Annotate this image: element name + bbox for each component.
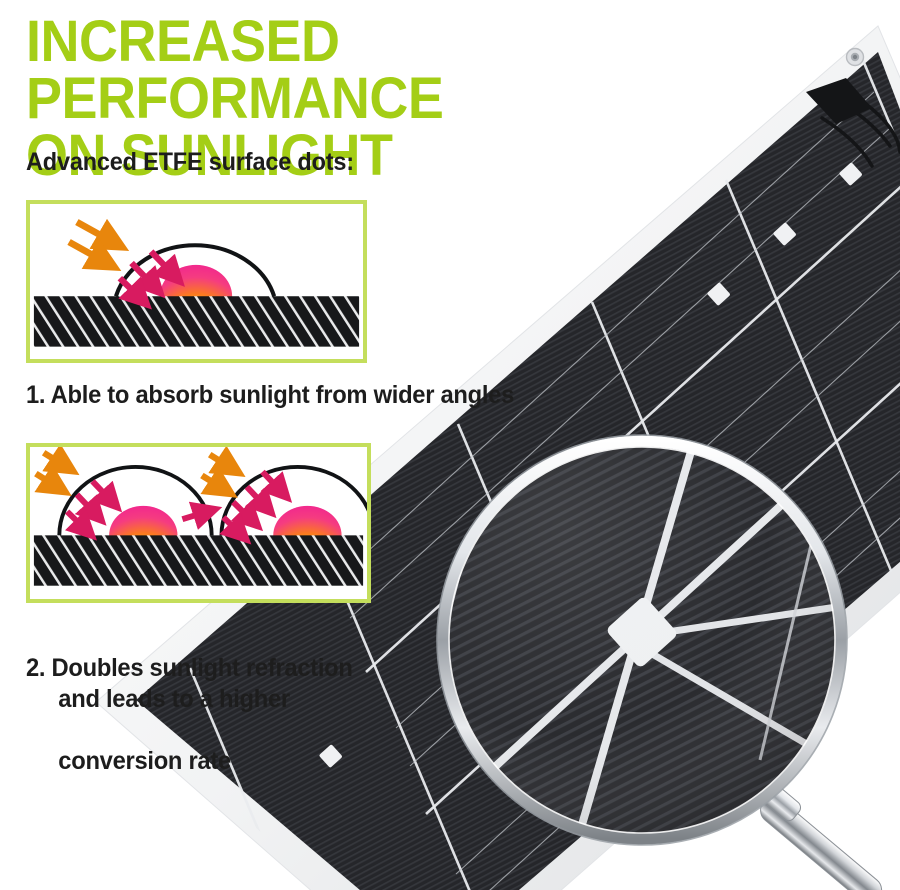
infographic-stage: INCREASED PERFORMANCE ON SUNLIGHT Advanc… xyxy=(0,0,900,890)
caption-item-2: 2. Doubles sunlight refraction and leads… xyxy=(26,622,406,808)
diagram2-graphic xyxy=(30,447,367,599)
diagram1-graphic xyxy=(30,204,363,359)
caption-item-2-line1: 2. Doubles sunlight refraction xyxy=(26,654,353,682)
subheading: Advanced ETFE surface dots: xyxy=(26,148,354,177)
double-etfe-dot-diagram xyxy=(26,443,371,603)
caption-item-2-line3: conversion rate xyxy=(26,746,406,777)
caption-item-2-line2: and leads to a higher xyxy=(26,684,406,715)
single-etfe-dot-diagram xyxy=(26,200,367,363)
caption-item-1: 1. Able to absorb sunlight from wider an… xyxy=(26,380,558,411)
infographic-content: INCREASED PERFORMANCE ON SUNLIGHT Advanc… xyxy=(0,0,900,890)
